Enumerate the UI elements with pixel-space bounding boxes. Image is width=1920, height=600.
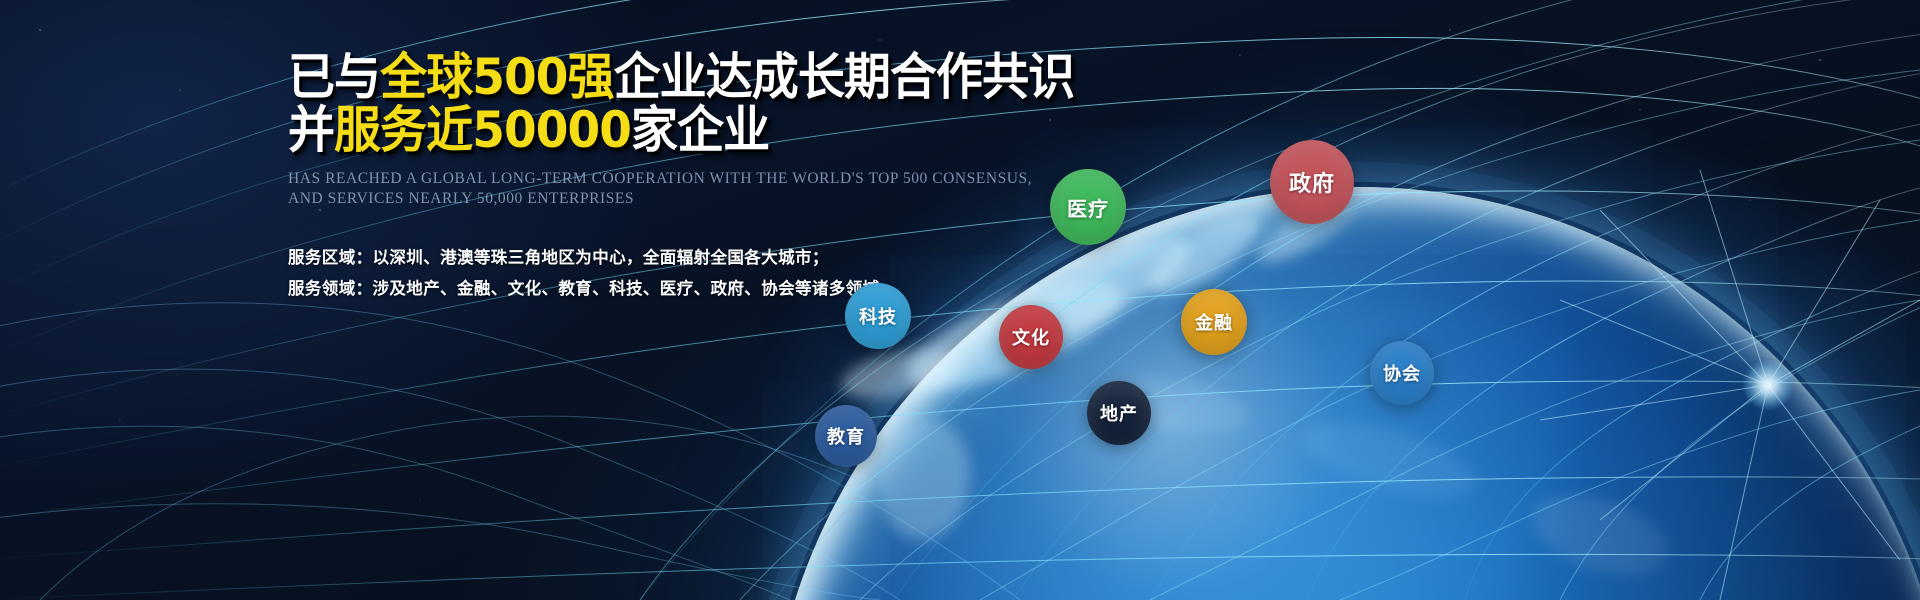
headline-l1-seg3: 企业达成长期合作共识 bbox=[614, 48, 1075, 106]
english-line-2: AND SERVICES NEARLY 50,000 ENTERPRISES bbox=[288, 189, 1048, 209]
english-line-1: HAS REACHED A GLOBAL LONG-TERM COOPERATI… bbox=[288, 169, 1048, 189]
category-node-label: 教育 bbox=[827, 423, 865, 449]
category-node-label: 金融 bbox=[1195, 309, 1233, 335]
headline-l1-seg2: 全球500强 bbox=[380, 48, 613, 106]
body-text: 服务区域：以深圳、港澳等珠三角地区为中心，全面辐射全国各大城市； 服务领域：涉及… bbox=[288, 242, 1048, 304]
headline-line-1: 已与全球500强企业达成长期合作共识 bbox=[288, 52, 1002, 102]
category-node-label: 医疗 bbox=[1067, 193, 1109, 222]
category-node-label: 文化 bbox=[1012, 324, 1050, 350]
headline-line-2: 并服务近50000家企业 bbox=[288, 105, 1002, 155]
copy-block: 已与全球500强企业达成长期合作共识 并服务近50000家企业 HAS REAC… bbox=[288, 52, 1048, 304]
category-node-3[interactable]: 科技 bbox=[845, 283, 911, 349]
headline-l2-seg1: 并 bbox=[288, 101, 334, 159]
english-subtitle: HAS REACHED A GLOBAL LONG-TERM COOPERATI… bbox=[288, 169, 1048, 209]
service-field-line: 服务领域：涉及地产、金融、文化、教育、科技、医疗、政府、协会等诸多领域。 bbox=[288, 273, 1048, 304]
headline-l2-seg3: 家企业 bbox=[631, 101, 769, 159]
category-node-4[interactable]: 文化 bbox=[999, 305, 1063, 369]
headline-l2-seg2: 服务近50000 bbox=[334, 101, 631, 159]
category-node-1[interactable]: 医疗 bbox=[1050, 169, 1126, 245]
service-area-line: 服务区域：以深圳、港澳等珠三角地区为中心，全面辐射全国各大城市； bbox=[288, 242, 1048, 273]
category-node-0[interactable]: 政府 bbox=[1270, 140, 1354, 224]
category-node-label: 政府 bbox=[1289, 166, 1335, 198]
headline-l1-seg1: 已与 bbox=[288, 48, 380, 106]
category-node-7[interactable]: 教育 bbox=[815, 405, 877, 467]
category-node-5[interactable]: 协会 bbox=[1370, 341, 1434, 405]
category-node-label: 科技 bbox=[859, 303, 897, 329]
category-node-label: 地产 bbox=[1100, 400, 1138, 426]
promo-banner: 已与全球500强企业达成长期合作共识 并服务近50000家企业 HAS REAC… bbox=[0, 0, 1920, 600]
category-node-label: 协会 bbox=[1383, 360, 1421, 386]
category-node-2[interactable]: 金融 bbox=[1181, 289, 1247, 355]
category-node-6[interactable]: 地产 bbox=[1087, 381, 1151, 445]
